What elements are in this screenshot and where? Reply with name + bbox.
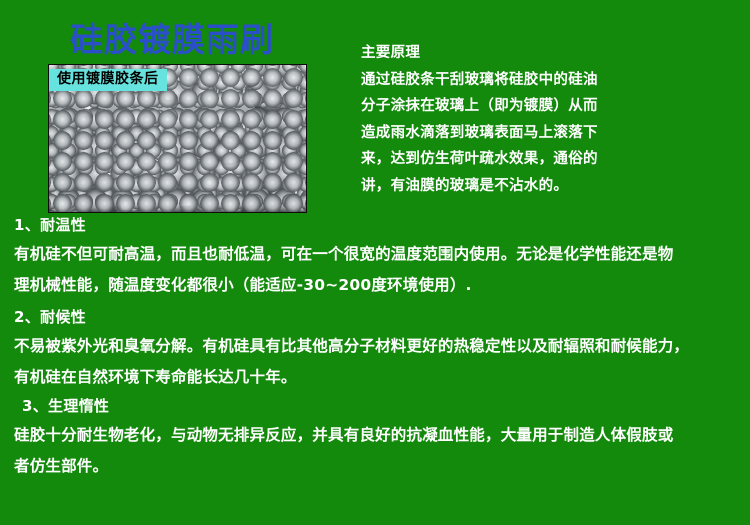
feature-section-1: 1、耐温性 有机硅不但可耐高温，而且也耐低温，可在一个很宽的温度范围内使用。无论…	[0, 212, 750, 301]
section-3-heading: 3、生理惰性	[0, 393, 750, 420]
principle-line-2: 分子涂抹在玻璃上（即为镀膜）从而	[361, 93, 741, 120]
section-2-heading: 2、耐候性	[0, 304, 750, 331]
feature-section-3: 3、生理惰性 硅胶十分耐生物老化，与动物无排异反应，并具有良好的抗凝血性能，大量…	[0, 393, 750, 482]
section-1-heading: 1、耐温性	[0, 212, 750, 239]
feature-sections: 1、耐温性 有机硅不但可耐高温，而且也耐低温，可在一个很宽的温度范围内使用。无论…	[0, 212, 750, 482]
page-title: 硅胶镀膜雨刷	[70, 20, 274, 60]
principle-line-3: 造成雨水滴落到玻璃表面马上滚落下	[361, 120, 741, 147]
section-1-body: 有机硅不但可耐高温，而且也耐低温，可在一个很宽的温度范围内使用。无论是化学性能还…	[0, 239, 750, 301]
feature-section-2: 2、耐候性 不易被紫外光和臭氧分解。有机硅具有比其他高分子材料更好的热稳定性以及…	[0, 304, 750, 393]
section-1-line-1: 有机硅不但可耐高温，而且也耐低温，可在一个很宽的温度范围内使用。无论是化学性能还…	[14, 239, 746, 270]
principle-line-4: 来，达到仿生荷叶疏水效果，通俗的	[361, 146, 741, 173]
product-photo: 使用镀膜胶条后	[48, 64, 307, 213]
section-2-body: 不易被紫外光和臭氧分解。有机硅具有比其他高分子材料更好的热稳定性以及耐辐照和耐候…	[0, 331, 750, 393]
product-detail-page: 硅胶镀膜雨刷 使用镀膜胶条后 主要原理 通过硅胶条干刮玻璃将硅胶中的硅油 分子涂…	[0, 0, 750, 525]
principle-block: 主要原理 通过硅胶条干刮玻璃将硅胶中的硅油 分子涂抹在玻璃上（即为镀膜）从而 造…	[361, 40, 741, 199]
principle-line-1: 通过硅胶条干刮玻璃将硅胶中的硅油	[361, 67, 741, 94]
principle-line-5: 讲，有油膜的玻璃是不沾水的。	[361, 173, 741, 200]
section-2-line-1: 不易被紫外光和臭氧分解。有机硅具有比其他高分子材料更好的热稳定性以及耐辐照和耐候…	[14, 331, 746, 362]
section-3-line-2: 者仿生部件。	[14, 451, 746, 482]
principle-heading: 主要原理	[361, 40, 741, 67]
section-3-line-1: 硅胶十分耐生物老化，与动物无排异反应，并具有良好的抗凝血性能，大量用于制造人体假…	[14, 420, 746, 451]
photo-caption-badge: 使用镀膜胶条后	[49, 69, 167, 91]
section-2-line-2: 有机硅在自然环境下寿命能长达几十年。	[14, 362, 746, 393]
section-3-body: 硅胶十分耐生物老化，与动物无排异反应，并具有良好的抗凝血性能，大量用于制造人体假…	[0, 420, 750, 482]
section-1-line-2: 理机械性能，随温度变化都很小（能适应-30~200度环境使用）.	[14, 270, 746, 301]
